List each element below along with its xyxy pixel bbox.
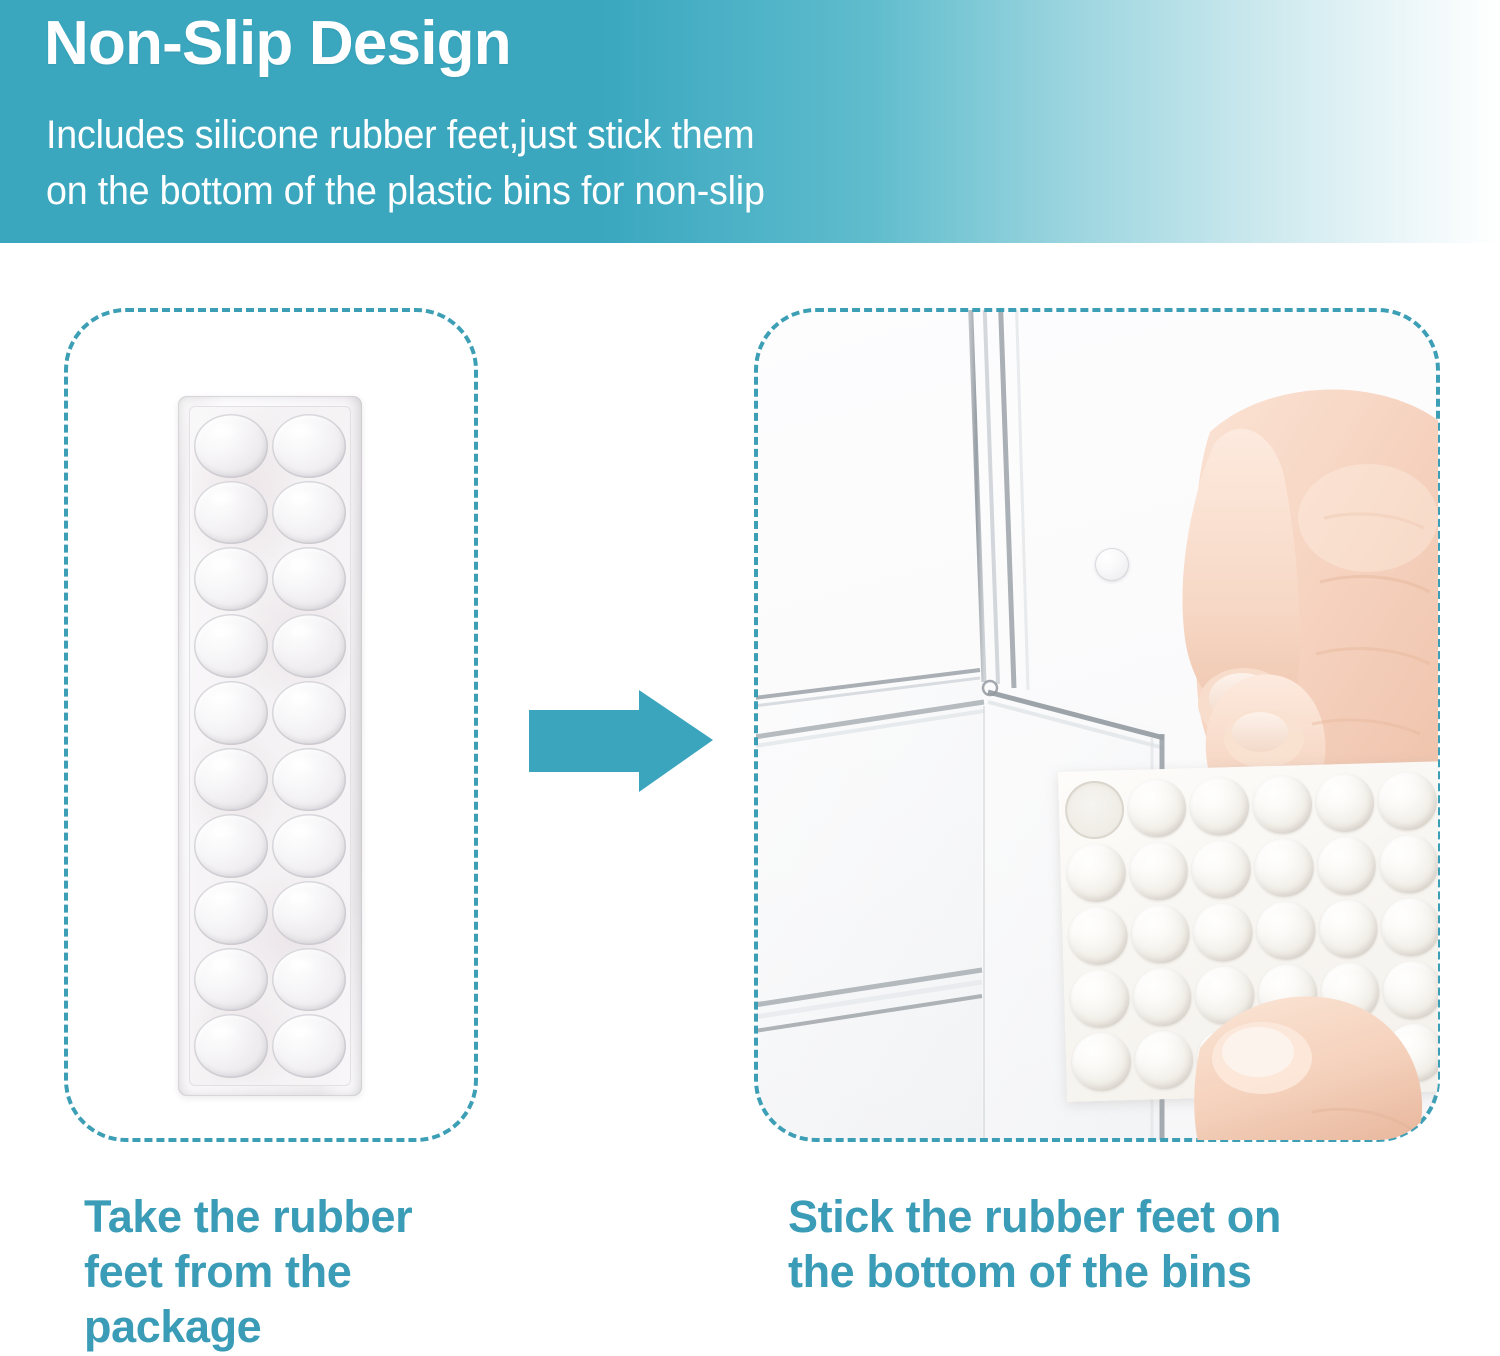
white-rubber-foot [1127, 778, 1187, 838]
caption-right-line-1: Stick the rubber feet on [788, 1190, 1448, 1245]
caption-right-line-2: the bottom of the bins [788, 1245, 1448, 1300]
white-rubber-foot [1190, 777, 1250, 837]
page-title: Non-Slip Design [44, 8, 511, 79]
caption-right: Stick the rubber feet on the bottom of t… [788, 1190, 1448, 1300]
clear-rubber-foot [272, 481, 346, 545]
caption-left-line-2: feet from the [84, 1245, 524, 1300]
white-rubber-foot [1377, 771, 1437, 831]
white-rubber-foot [1066, 843, 1126, 903]
caption-left-line-3: package [84, 1300, 524, 1355]
blister-tray [178, 396, 362, 1096]
clear-rubber-foot [194, 547, 268, 611]
clear-rubber-foot [194, 948, 268, 1012]
caption-left-line-1: Take the rubber [84, 1190, 524, 1245]
header-banner: Non-Slip Design Includes silicone rubber… [0, 0, 1500, 243]
blister-package-photo [178, 396, 362, 1096]
white-rubber-foot-removed [1064, 780, 1124, 840]
white-rubber-foot [1379, 834, 1438, 894]
header-subtitle: Includes silicone rubber feet,just stick… [46, 107, 986, 219]
white-rubber-foot [1130, 904, 1190, 964]
clear-rubber-foot [272, 881, 346, 945]
clear-rubber-foot [272, 948, 346, 1012]
clear-rubber-foot [194, 881, 268, 945]
clear-rubber-foot [272, 681, 346, 745]
step-flow-arrow-icon [529, 690, 713, 792]
clear-rubber-foot [194, 481, 268, 545]
clear-rubber-foot [272, 547, 346, 611]
clear-rubber-foot [272, 414, 346, 478]
header-subtitle-line-1: Includes silicone rubber feet,just stick… [46, 113, 754, 157]
clear-rubber-foot [194, 414, 268, 478]
clear-rubber-foot [272, 814, 346, 878]
white-rubber-foot [1070, 969, 1130, 1029]
clear-rubber-foot [194, 1014, 268, 1078]
clear-rubber-foot [194, 748, 268, 812]
white-rubber-foot [1068, 906, 1128, 966]
white-rubber-foot [1193, 903, 1253, 963]
white-rubber-foot [1134, 1030, 1194, 1090]
clear-rubber-foot [272, 614, 346, 678]
caption-left: Take the rubber feet from the package [84, 1190, 524, 1355]
clear-foot-on-corner [1095, 548, 1129, 581]
clear-rubber-feet-grid [194, 414, 346, 1078]
white-rubber-foot [1381, 897, 1438, 957]
clear-rubber-foot [272, 1014, 346, 1078]
clear-rubber-foot [272, 748, 346, 812]
clear-rubber-foot [194, 681, 268, 745]
clear-rubber-foot [194, 614, 268, 678]
white-rubber-foot [1256, 901, 1316, 961]
thumb-holding-sheet [1192, 962, 1424, 1140]
white-rubber-foot [1252, 775, 1312, 835]
white-rubber-foot [1191, 840, 1251, 900]
white-rubber-foot [1071, 1032, 1131, 1092]
white-rubber-foot [1254, 838, 1314, 898]
white-rubber-foot [1129, 841, 1189, 901]
white-rubber-foot [1317, 836, 1377, 896]
white-rubber-foot [1132, 967, 1192, 1027]
infographic-page: Non-Slip Design Includes silicone rubber… [0, 0, 1500, 1356]
white-rubber-foot [1318, 899, 1378, 959]
white-rubber-foot [1315, 773, 1375, 833]
clear-rubber-foot [194, 814, 268, 878]
header-subtitle-line-2: on the bottom of the plastic bins for no… [46, 163, 986, 219]
